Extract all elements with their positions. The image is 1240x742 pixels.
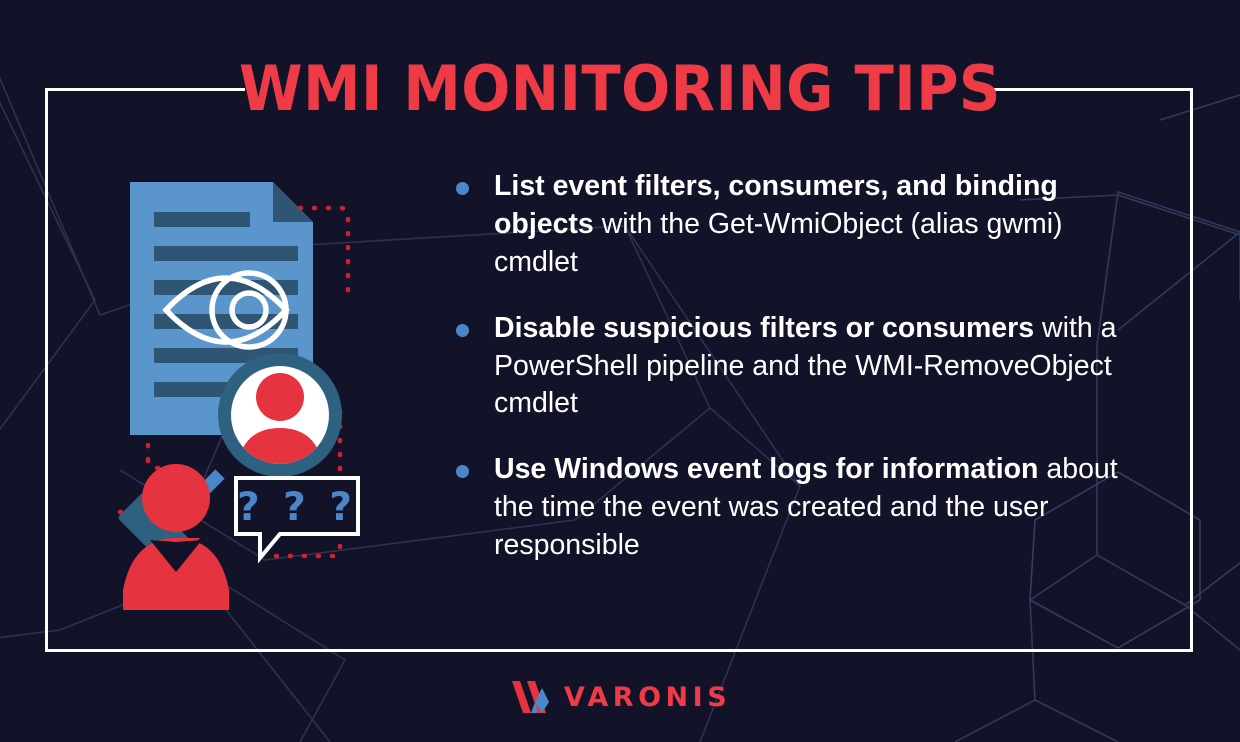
bullet-dot-icon	[456, 465, 469, 478]
frame-border-left	[45, 88, 48, 652]
varonis-wordmark: VARONIS	[564, 684, 731, 711]
varonis-chevron-mark	[509, 680, 553, 714]
bullet-use-windows-event-logs: Use Windows event logs for information a…	[452, 451, 1142, 565]
frame-border-bottom	[45, 649, 1193, 652]
frame-border-right	[1190, 88, 1193, 652]
wmi-monitoring-illustration: ? ? ?	[108, 160, 428, 620]
bullet-dot-icon	[456, 324, 469, 337]
bullet-disable-suspicious-filters: Disable suspicious filters or consumers …	[452, 310, 1142, 424]
bullet-list: List event filters, consumers, and bindi…	[452, 168, 1142, 565]
speech-bubble-text: ? ? ?	[237, 485, 357, 530]
bullet-dot-icon	[456, 182, 469, 195]
bullet-list-event-filters: List event filters, consumers, and bindi…	[452, 168, 1142, 282]
page-title: WMI MONITORING TIPS	[43, 58, 1196, 120]
varonis-logo: VARONIS	[0, 680, 1240, 714]
infographic-page: WMI MONITORING TIPS	[0, 0, 1240, 742]
bullet-3-bold: Use Windows event logs for information	[494, 453, 1038, 485]
bullet-2-bold: Disable suspicious filters or consumers	[494, 312, 1034, 344]
